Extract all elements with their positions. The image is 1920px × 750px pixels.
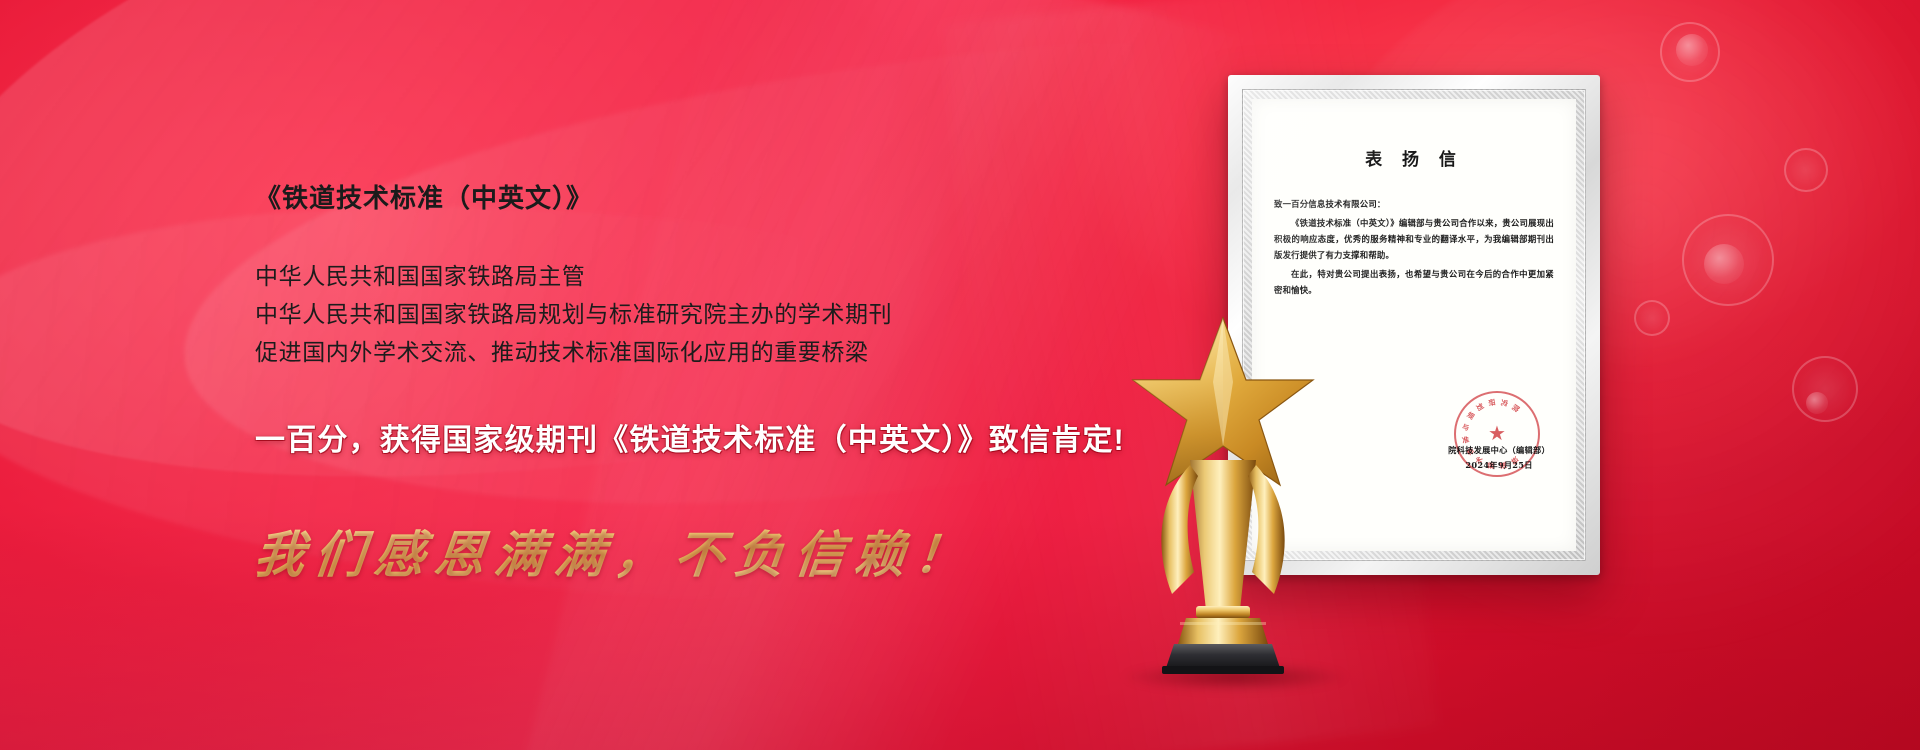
- certificate-title: 表 扬 信: [1274, 145, 1554, 170]
- bokeh-dot-3: [1806, 392, 1828, 414]
- seal-star-icon: ★: [1488, 424, 1506, 444]
- bokeh-dot-1: [1676, 34, 1708, 66]
- trophy-base-bottom: [1166, 644, 1280, 668]
- certificate-salutation: 致一百分信息技术有限公司：: [1274, 196, 1554, 212]
- bokeh-ring-2: [1784, 148, 1828, 192]
- subtitle-line-2: 中华人民共和国国家铁路局规划与标准研究院主办的学术期刊: [255, 295, 1215, 333]
- gold-star-trophy: [1128, 310, 1318, 680]
- trophy-star-icon: [1133, 318, 1313, 485]
- certificate-paragraph-2: 在此，特对贵公司提出表扬，也希望与贵公司在今后的合作中更加紧密和愉快。: [1274, 266, 1554, 298]
- certificate-paragraph-1: 《铁道技术标准（中英文）》编辑部与贵公司合作以来，贵公司展现出积极的响应态度，优…: [1274, 215, 1554, 263]
- subtitle-list: 中华人民共和国国家铁路局主管 中华人民共和国国家铁路局规划与标准研究院主办的学术…: [255, 257, 1215, 371]
- headline-text: 一百分，获得国家级期刊《铁道技术标准（中英文）》致信肯定!: [255, 415, 1215, 459]
- banner-text-block: 《铁道技术标准（中英文）》 中华人民共和国国家铁路局主管 中华人民共和国国家铁路…: [255, 178, 1215, 587]
- bokeh-dot-2: [1704, 244, 1744, 284]
- bokeh-ring-1: [1660, 22, 1720, 82]
- journal-title: 《铁道技术标准（中英文）》: [255, 178, 1215, 215]
- official-seal-stamp: 铁道技术标准与规划研究院 ★: [1454, 391, 1540, 477]
- subtitle-line-1: 中华人民共和国国家铁路局主管: [255, 257, 1215, 295]
- trophy-svg: [1128, 310, 1318, 680]
- promotional-banner: 《铁道技术标准（中英文）》 中华人民共和国国家铁路局主管 中华人民共和国国家铁路…: [0, 0, 1920, 750]
- bokeh-ring-4: [1792, 356, 1858, 422]
- trophy-base-top: [1178, 618, 1268, 644]
- calligraphy-slogan: 我们感恩满满，不负信赖！: [251, 515, 1219, 587]
- bokeh-ring-5: [1634, 300, 1670, 336]
- bokeh-ring-3: [1682, 214, 1774, 306]
- subtitle-line-3: 促进国内外学术交流、推动技术标准国际化应用的重要桥梁: [255, 333, 1215, 371]
